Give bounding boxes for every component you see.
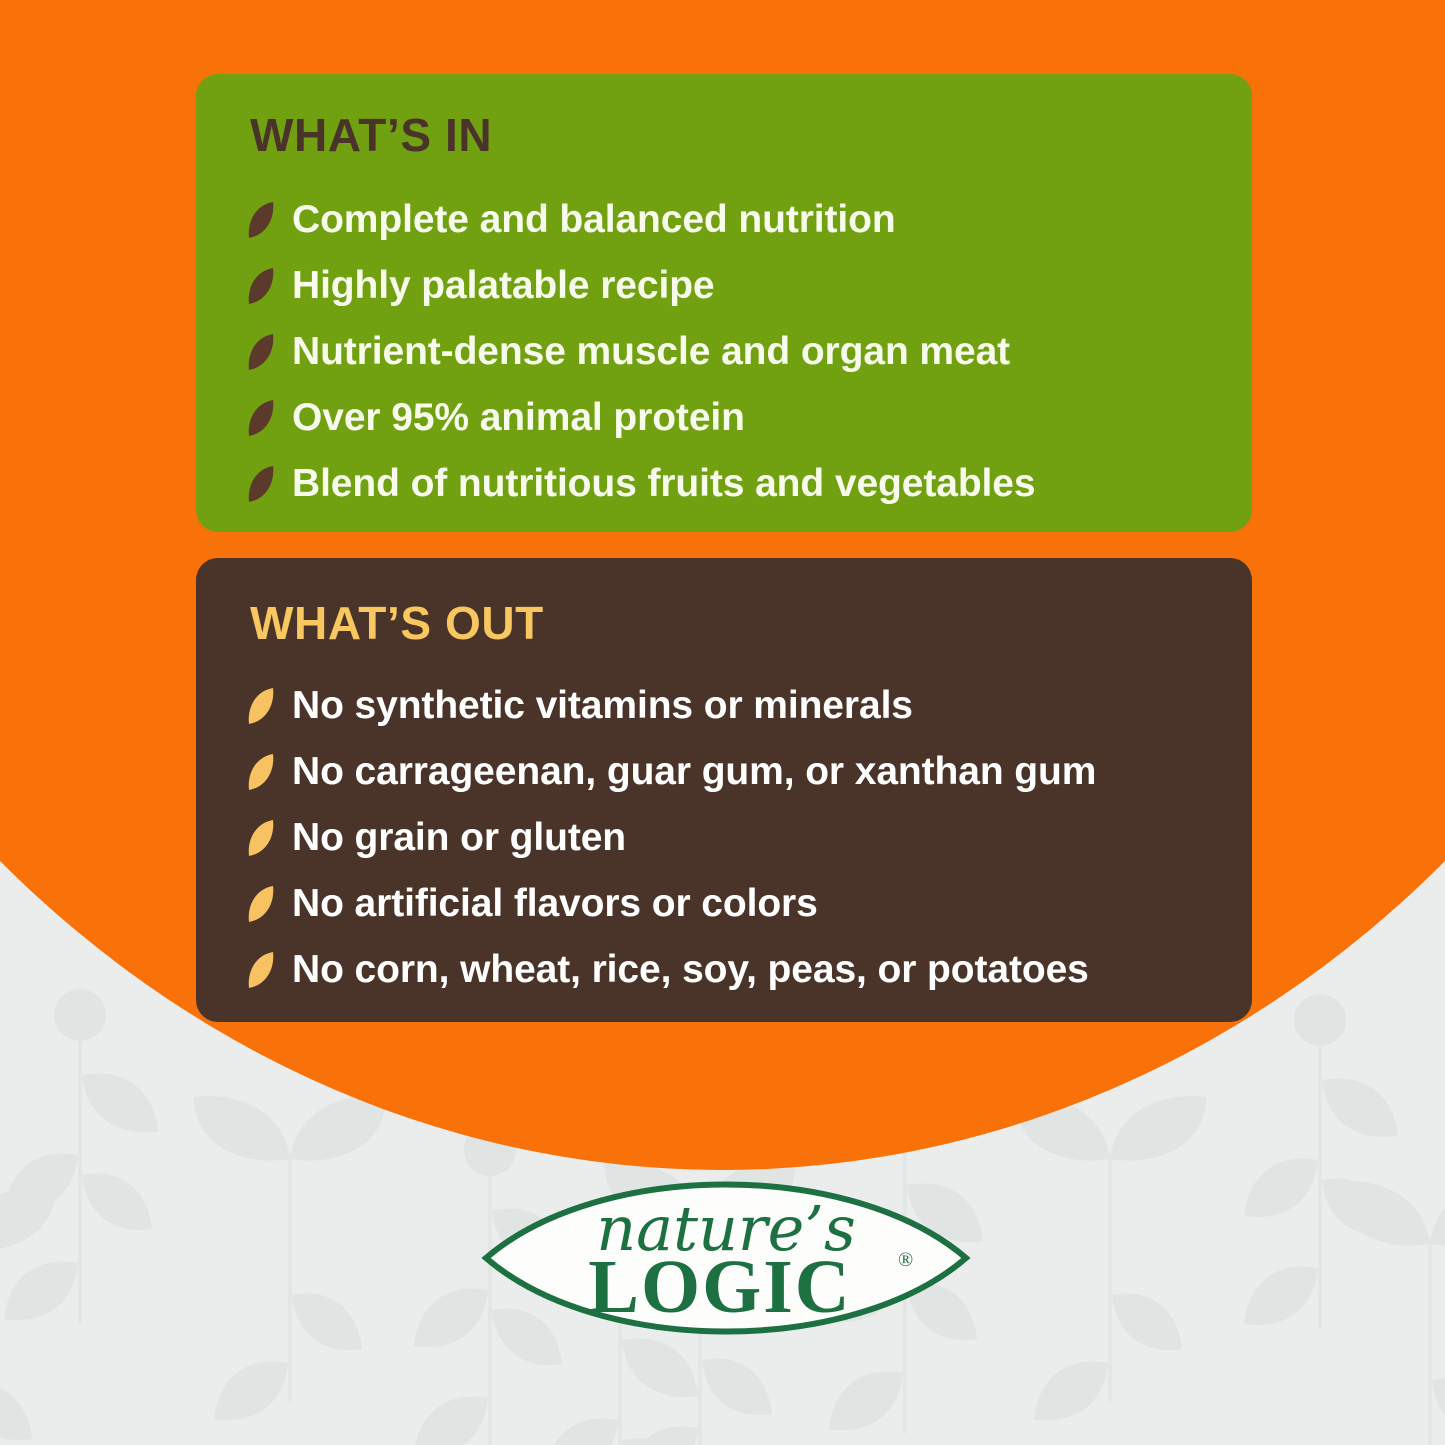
list-item: No synthetic vitamins or minerals [246, 673, 1096, 739]
list-item-label: Complete and balanced nutrition [292, 200, 896, 241]
registered-trademark-icon: ® [898, 1249, 913, 1271]
list-item-label: No synthetic vitamins or minerals [292, 686, 913, 727]
list-item-label: No carrageenan, guar gum, or xanthan gum [292, 752, 1096, 793]
leaf-bullet-icon [246, 199, 276, 241]
whats-in-heading: WHAT’S IN [250, 112, 492, 158]
list-item-label: No artificial flavors or colors [292, 884, 818, 925]
whats-out-heading: WHAT’S OUT [250, 600, 544, 646]
whats-out-panel: WHAT’S OUT No synthetic vitamins or mine… [196, 558, 1252, 1022]
list-item: No artificial flavors or colors [246, 871, 1096, 937]
leaf-bullet-icon [246, 949, 276, 991]
list-item-label: No grain or gluten [292, 818, 626, 859]
list-item: Complete and balanced nutrition [246, 187, 1035, 253]
list-item-label: No corn, wheat, rice, soy, peas, or pota… [292, 950, 1089, 991]
leaf-bullet-icon [246, 463, 276, 505]
leaf-bullet-icon [246, 817, 276, 859]
leaf-bullet-icon [246, 265, 276, 307]
list-item: Highly palatable recipe [246, 253, 1035, 319]
leaf-bullet-icon [246, 397, 276, 439]
whats-in-list: Complete and balanced nutrition Highly p… [246, 187, 1035, 517]
list-item: No carrageenan, guar gum, or xanthan gum [246, 739, 1096, 805]
list-item: Over 95% animal protein [246, 385, 1035, 451]
whats-out-list: No synthetic vitamins or minerals No car… [246, 673, 1096, 1003]
leaf-bullet-icon [246, 883, 276, 925]
leaf-bullet-icon [246, 751, 276, 793]
logo-wordmark-text: LOGIC [588, 1245, 851, 1329]
natures-logic-logo: nature’s LOGIC ® [480, 1150, 972, 1366]
list-item: Blend of nutritious fruits and vegetable… [246, 451, 1035, 517]
list-item: No grain or gluten [246, 805, 1096, 871]
list-item-label: Highly palatable recipe [292, 266, 715, 307]
poster-canvas: WHAT’S IN Complete and balanced nutritio… [0, 0, 1445, 1445]
leaf-bullet-icon [246, 331, 276, 373]
list-item: Nutrient-dense muscle and organ meat [246, 319, 1035, 385]
list-item-label: Over 95% animal protein [292, 398, 745, 439]
whats-in-panel: WHAT’S IN Complete and balanced nutritio… [196, 74, 1252, 532]
leaf-bullet-icon [246, 685, 276, 727]
list-item-label: Blend of nutritious fruits and vegetable… [292, 464, 1035, 505]
list-item-label: Nutrient-dense muscle and organ meat [292, 332, 1010, 373]
list-item: No corn, wheat, rice, soy, peas, or pota… [246, 937, 1096, 1003]
